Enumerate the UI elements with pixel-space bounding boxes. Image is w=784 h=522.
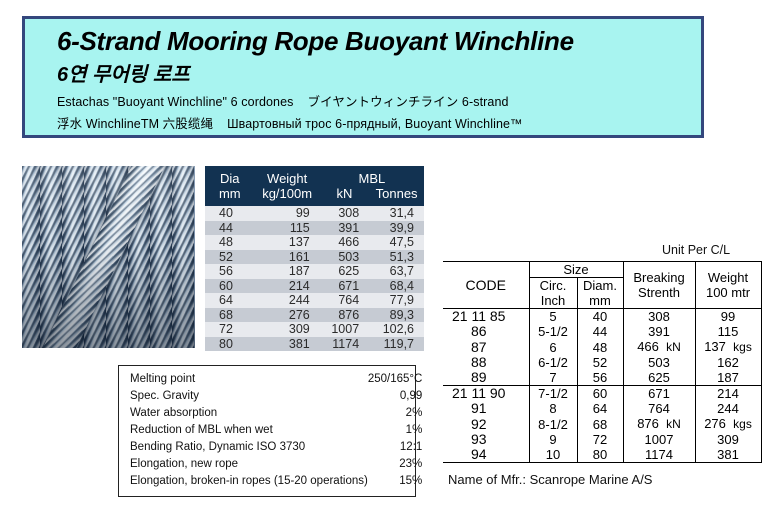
code-cell-weight: 309 [695,432,761,447]
code-cell-strength: 876 kN [623,416,695,432]
code-cell-diam: 72 [577,432,623,447]
property-row: Melting point250/165°C [130,371,422,388]
code-cell-strength: 764 [623,401,695,416]
spec-cell-dia: 72 [205,322,255,337]
code-cell-weight: 381 [695,447,761,463]
code-cell-circ: 6-1/2 [529,355,577,370]
code-table-row: 87648466 kN137 kgs [443,339,761,355]
code-cell-code: 21 11 85 [443,309,529,325]
code-cell-strength: 391 [623,324,695,339]
spec-cell-dia: 48 [205,235,255,250]
spec-table-body: 409930831,44411539139,94813746647,552161… [205,206,424,351]
code-cell-circ: 8 [529,401,577,416]
code-header-circ-line2: Inch [530,293,577,308]
property-value: 23% [368,456,422,473]
spec-cell-kn: 308 [320,206,369,221]
header-banner: 6-Strand Mooring Rope Buoyant Winchline … [22,16,704,138]
weight-unit-label: kgs [733,340,752,354]
property-row: Spec. Gravity0,99 [130,388,422,405]
code-cell-strength-value: 466 [637,339,659,354]
spec-cell-weight: 381 [255,337,320,352]
code-cell-code: 21 11 90 [443,386,529,402]
code-cell-strength: 503 [623,355,695,370]
property-label: Spec. Gravity [130,388,368,405]
spec-header-mbl-tonnes: Tonnes [369,186,424,206]
code-cell-circ: 7 [529,370,577,386]
spec-table-row: 409930831,4 [205,206,424,221]
spec-cell-weight: 276 [255,308,320,323]
code-cell-code: 92 [443,416,529,432]
property-value: 15% [368,473,422,490]
spec-cell-weight: 161 [255,250,320,265]
spec-cell-dia: 64 [205,293,255,308]
code-header-code: CODE [443,262,529,309]
spec-table-header-row-2: mm kg/100m kN Tonnes [205,186,424,206]
code-cell-weight: 187 [695,370,761,386]
page-title: 6-Strand Mooring Rope Buoyant Winchline [57,26,574,57]
code-header-weight-line1: Weight [696,270,761,285]
properties-box: Melting point250/165°CSpec. Gravity0,99W… [118,365,416,497]
code-cell-code: 94 [443,447,529,463]
spec-cell-weight: 137 [255,235,320,250]
property-label: Bending Ratio, Dynamic ISO 3730 [130,439,368,456]
code-header-diam-line2: mm [578,293,623,308]
spec-cell-tonnes: 89,3 [369,308,424,323]
property-label: Elongation, new rope [130,456,368,473]
code-table-row: 928-1/268876 kN276 kgs [443,416,761,432]
code-cell-circ: 5-1/2 [529,324,577,339]
code-header-breaking-line1: Breaking [624,270,695,285]
code-cell-diam: 48 [577,339,623,355]
spec-table-row: 5216150351,3 [205,250,424,265]
property-value: 250/165°C [368,371,422,388]
spec-cell-dia: 44 [205,221,255,236]
spec-cell-weight: 115 [255,221,320,236]
code-cell-code: 89 [443,370,529,386]
spec-cell-kn: 625 [320,264,369,279]
rope-product-photo [22,166,195,348]
spec-table-row: 6021467168,4 [205,279,424,294]
subtitle-chinese: 浮水 WinchlineTM 六股缆绳 [57,117,213,131]
code-cell-weight-value: 276 [704,416,726,431]
spec-table-row: 803811174119,7 [205,337,424,352]
spec-header-dia-unit: mm [205,186,255,206]
spec-cell-dia: 80 [205,337,255,352]
code-cell-circ: 5 [529,309,577,325]
code-header-breaking-line2: Strenth [624,285,695,300]
code-table-row: 21 11 8554030899 [443,309,761,325]
code-cell-circ: 6 [529,339,577,355]
code-cell-code: 91 [443,401,529,416]
code-cell-strength-value: 876 [637,416,659,431]
code-cell-strength: 671 [623,386,695,402]
code-cell-circ: 9 [529,432,577,447]
spec-table-row: 6424476477,9 [205,293,424,308]
code-cell-diam: 56 [577,370,623,386]
spec-cell-weight: 214 [255,279,320,294]
code-header-diam-line1: Diam. [578,278,623,293]
spec-table-head: Dia Weight MBL mm kg/100m kN Tonnes [205,166,424,206]
code-header-circ: Circ. Inch [529,278,577,309]
spec-cell-tonnes: 119,7 [369,337,424,352]
properties-table: Melting point250/165°CSpec. Gravity0,99W… [130,371,422,490]
spec-cell-kn: 671 [320,279,369,294]
spec-cell-weight: 309 [255,322,320,337]
page-title-korean: 6연 무어링 로프 [57,58,190,87]
manufacturer-line: Name of Mfr.: Scanrope Marine A/S [448,472,652,487]
code-cell-code: 93 [443,432,529,447]
spec-cell-tonnes: 102,6 [369,322,424,337]
spec-cell-tonnes: 77,9 [369,293,424,308]
property-row: Reduction of MBL when wet1% [130,422,422,439]
code-cell-strength: 625 [623,370,695,386]
code-header-weight: Weight 100 mtr [695,262,761,309]
spec-table-row: 6827687689,3 [205,308,424,323]
property-value: 0,99 [368,388,422,405]
code-cell-weight-value: 137 [704,339,726,354]
weight-unit-label: kgs [733,417,752,431]
code-table: CODE Size Breaking Strenth Weight 100 mt… [443,261,762,463]
code-cell-weight: 137 kgs [695,339,761,355]
code-cell-weight: 276 kgs [695,416,761,432]
subtitle-japanese: ブイヤントウィンチライン 6-strand [308,95,509,109]
properties-table-body: Melting point250/165°CSpec. Gravity0,99W… [130,371,422,490]
property-row: Elongation, broken-in ropes (15-20 opera… [130,473,422,490]
unit-per-cl-label: Unit Per C/L [662,243,730,257]
code-table-row: 91864764244 [443,401,761,416]
subtitle-spanish: Estachas "Buoyant Winchline" 6 cordones [57,95,294,109]
spec-cell-kn: 503 [320,250,369,265]
property-label: Elongation, broken-in ropes (15-20 opera… [130,473,368,490]
spec-table-row: 5618762563,7 [205,264,424,279]
spec-cell-dia: 56 [205,264,255,279]
code-cell-diam: 40 [577,309,623,325]
spec-cell-kn: 764 [320,293,369,308]
code-cell-code: 86 [443,324,529,339]
property-value: 12:1 [368,439,422,456]
code-table-row: 865-1/244391115 [443,324,761,339]
spec-table-header-row-1: Dia Weight MBL [205,166,424,186]
spec-header-mbl: MBL [320,166,424,186]
code-header-size: Size [529,262,623,278]
code-cell-weight: 214 [695,386,761,402]
property-value: 1% [368,422,422,439]
code-cell-weight: 99 [695,309,761,325]
rope-shading-overlay [22,166,195,348]
property-row: Elongation, new rope23% [130,456,422,473]
spec-cell-dia: 40 [205,206,255,221]
spec-cell-weight: 99 [255,206,320,221]
spec-cell-weight: 187 [255,264,320,279]
code-table-row: 89756625187 [443,370,761,386]
spec-cell-tonnes: 63,7 [369,264,424,279]
code-cell-diam: 52 [577,355,623,370]
code-cell-code: 87 [443,339,529,355]
spec-cell-tonnes: 39,9 [369,221,424,236]
code-header-row-1: CODE Size Breaking Strenth Weight 100 mt… [443,262,761,278]
code-table-head: CODE Size Breaking Strenth Weight 100 mt… [443,262,761,309]
code-cell-strength: 1007 [623,432,695,447]
code-cell-circ: 8-1/2 [529,416,577,432]
spec-cell-tonnes: 68,4 [369,279,424,294]
code-table-row: 886-1/252503162 [443,355,761,370]
code-table-row: 21 11 907-1/260671214 [443,386,761,402]
spec-cell-dia: 68 [205,308,255,323]
spec-cell-kn: 391 [320,221,369,236]
spec-table-row: 4813746647,5 [205,235,424,250]
code-header-circ-line1: Circ. [530,278,577,293]
code-table-row: 939721007309 [443,432,761,447]
code-table-body: 21 11 8554030899865-1/24439111587648466 … [443,309,761,463]
code-header-breaking: Breaking Strenth [623,262,695,309]
code-cell-strength: 466 kN [623,339,695,355]
spec-cell-kn: 466 [320,235,369,250]
spec-table-row: 4411539139,9 [205,221,424,236]
code-cell-circ: 10 [529,447,577,463]
property-row: Bending Ratio, Dynamic ISO 373012:1 [130,439,422,456]
property-label: Reduction of MBL when wet [130,422,368,439]
code-cell-strength: 1174 [623,447,695,463]
code-cell-weight: 115 [695,324,761,339]
spec-cell-tonnes: 31,4 [369,206,424,221]
spec-header-dia: Dia [205,166,255,186]
code-cell-code: 88 [443,355,529,370]
spec-header-weight: Weight [255,166,320,186]
subtitle-line-2: 浮水 WinchlineTM 六股缆绳Швартовный трос 6-пря… [57,113,523,132]
spec-cell-weight: 244 [255,293,320,308]
code-cell-diam: 44 [577,324,623,339]
code-cell-weight: 162 [695,355,761,370]
strength-unit-label: kN [666,417,681,431]
code-header-diam: Diam. mm [577,278,623,309]
property-value: 2% [368,405,422,422]
code-cell-strength: 308 [623,309,695,325]
spec-table: Dia Weight MBL mm kg/100m kN Tonnes 4099… [205,166,424,351]
spec-cell-kn: 1174 [320,337,369,352]
code-cell-weight: 244 [695,401,761,416]
code-cell-diam: 68 [577,416,623,432]
spec-cell-dia: 60 [205,279,255,294]
code-cell-diam: 80 [577,447,623,463]
property-label: Water absorption [130,405,368,422]
spec-cell-tonnes: 51,3 [369,250,424,265]
spec-header-mbl-kn: kN [320,186,369,206]
subtitle-line-1: Estachas "Buoyant Winchline" 6 cordonesブ… [57,91,509,110]
code-cell-diam: 64 [577,401,623,416]
spec-cell-kn: 876 [320,308,369,323]
spec-cell-tonnes: 47,5 [369,235,424,250]
code-header-weight-line2: 100 mtr [696,285,761,300]
spec-cell-kn: 1007 [320,322,369,337]
code-cell-diam: 60 [577,386,623,402]
strength-unit-label: kN [666,340,681,354]
property-label: Melting point [130,371,368,388]
spec-cell-dia: 52 [205,250,255,265]
spec-header-weight-unit: kg/100m [255,186,320,206]
spec-table-row: 723091007102,6 [205,322,424,337]
code-cell-circ: 7-1/2 [529,386,577,402]
subtitle-russian: Швартовный трос 6-прядный, Buoyant Winch… [227,117,523,131]
code-table-row: 9410801174381 [443,447,761,463]
property-row: Water absorption2% [130,405,422,422]
